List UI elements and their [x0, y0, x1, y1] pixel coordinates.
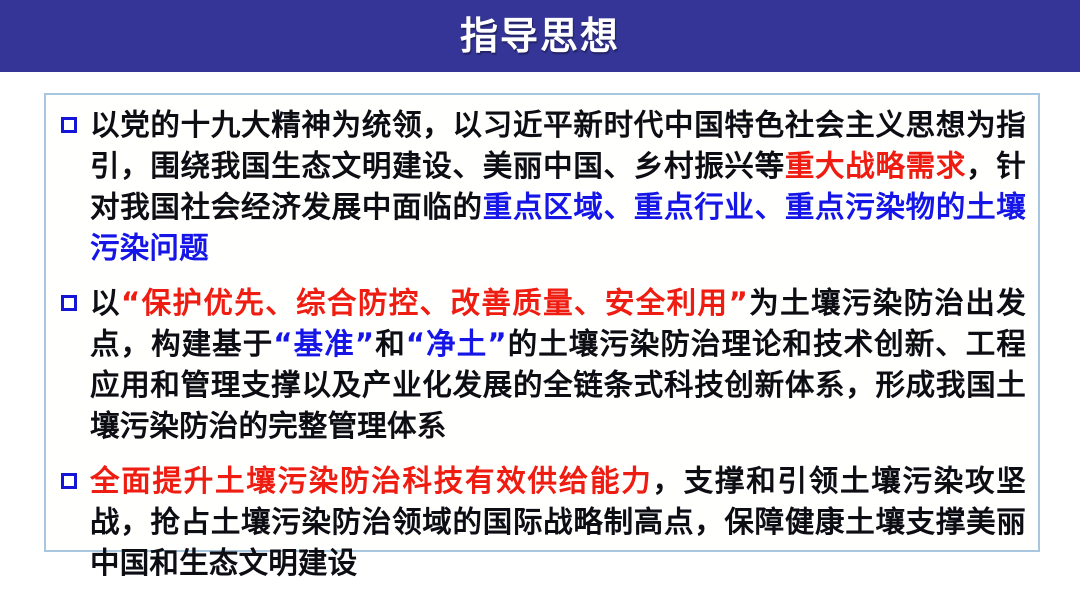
- slide-root: 指导思想 以党的十九大精神为统领，以习近平新时代中国特色社会主义思想为指引，围绕…: [0, 0, 1080, 607]
- bullet-item: 以党的十九大精神为统领，以习近平新时代中国特色社会主义思想为指引，围绕我国生态文…: [58, 105, 1026, 269]
- text-run: 以: [90, 286, 121, 320]
- hollow-square-bullet-icon: [61, 295, 77, 311]
- hollow-square-bullet-icon: [61, 117, 77, 133]
- bullet-item: 全面提升土壤污染防治科技有效供给能力，支撑和引领土壤污染攻坚战，抢占土壤污染防治…: [58, 461, 1026, 584]
- content-box: 以党的十九大精神为统领，以习近平新时代中国特色社会主义思想为指引，围绕我国生态文…: [44, 93, 1040, 552]
- text-run: 重大战略需求: [785, 149, 966, 183]
- hollow-square-bullet-icon: [61, 473, 77, 489]
- text-run: “净土”: [406, 327, 507, 361]
- text-run: “基准”: [273, 327, 374, 361]
- bullet-paragraph-2: 以“保护优先、综合防控、改善质量、安全利用”为土壤污染防治出发点，构建基于“基准…: [90, 283, 1026, 447]
- bullet-item: 以“保护优先、综合防控、改善质量、安全利用”为土壤污染防治出发点，构建基于“基准…: [58, 283, 1026, 447]
- bullet-paragraph-3: 全面提升土壤污染防治科技有效供给能力，支撑和引领土壤污染攻坚战，抢占土壤污染防治…: [90, 461, 1026, 584]
- text-run: 全面提升土壤污染防治科技有效供给能力: [90, 464, 653, 498]
- text-run: 和: [374, 327, 405, 361]
- slide-title: 指导思想: [460, 17, 620, 55]
- title-bar-underline: [0, 72, 1080, 75]
- slide-title-bar: 指导思想: [0, 0, 1080, 72]
- text-run: “保护优先、综合防控、改善质量、安全利用”: [121, 286, 748, 320]
- bullet-paragraph-1: 以党的十九大精神为统领，以习近平新时代中国特色社会主义思想为指引，围绕我国生态文…: [90, 105, 1026, 269]
